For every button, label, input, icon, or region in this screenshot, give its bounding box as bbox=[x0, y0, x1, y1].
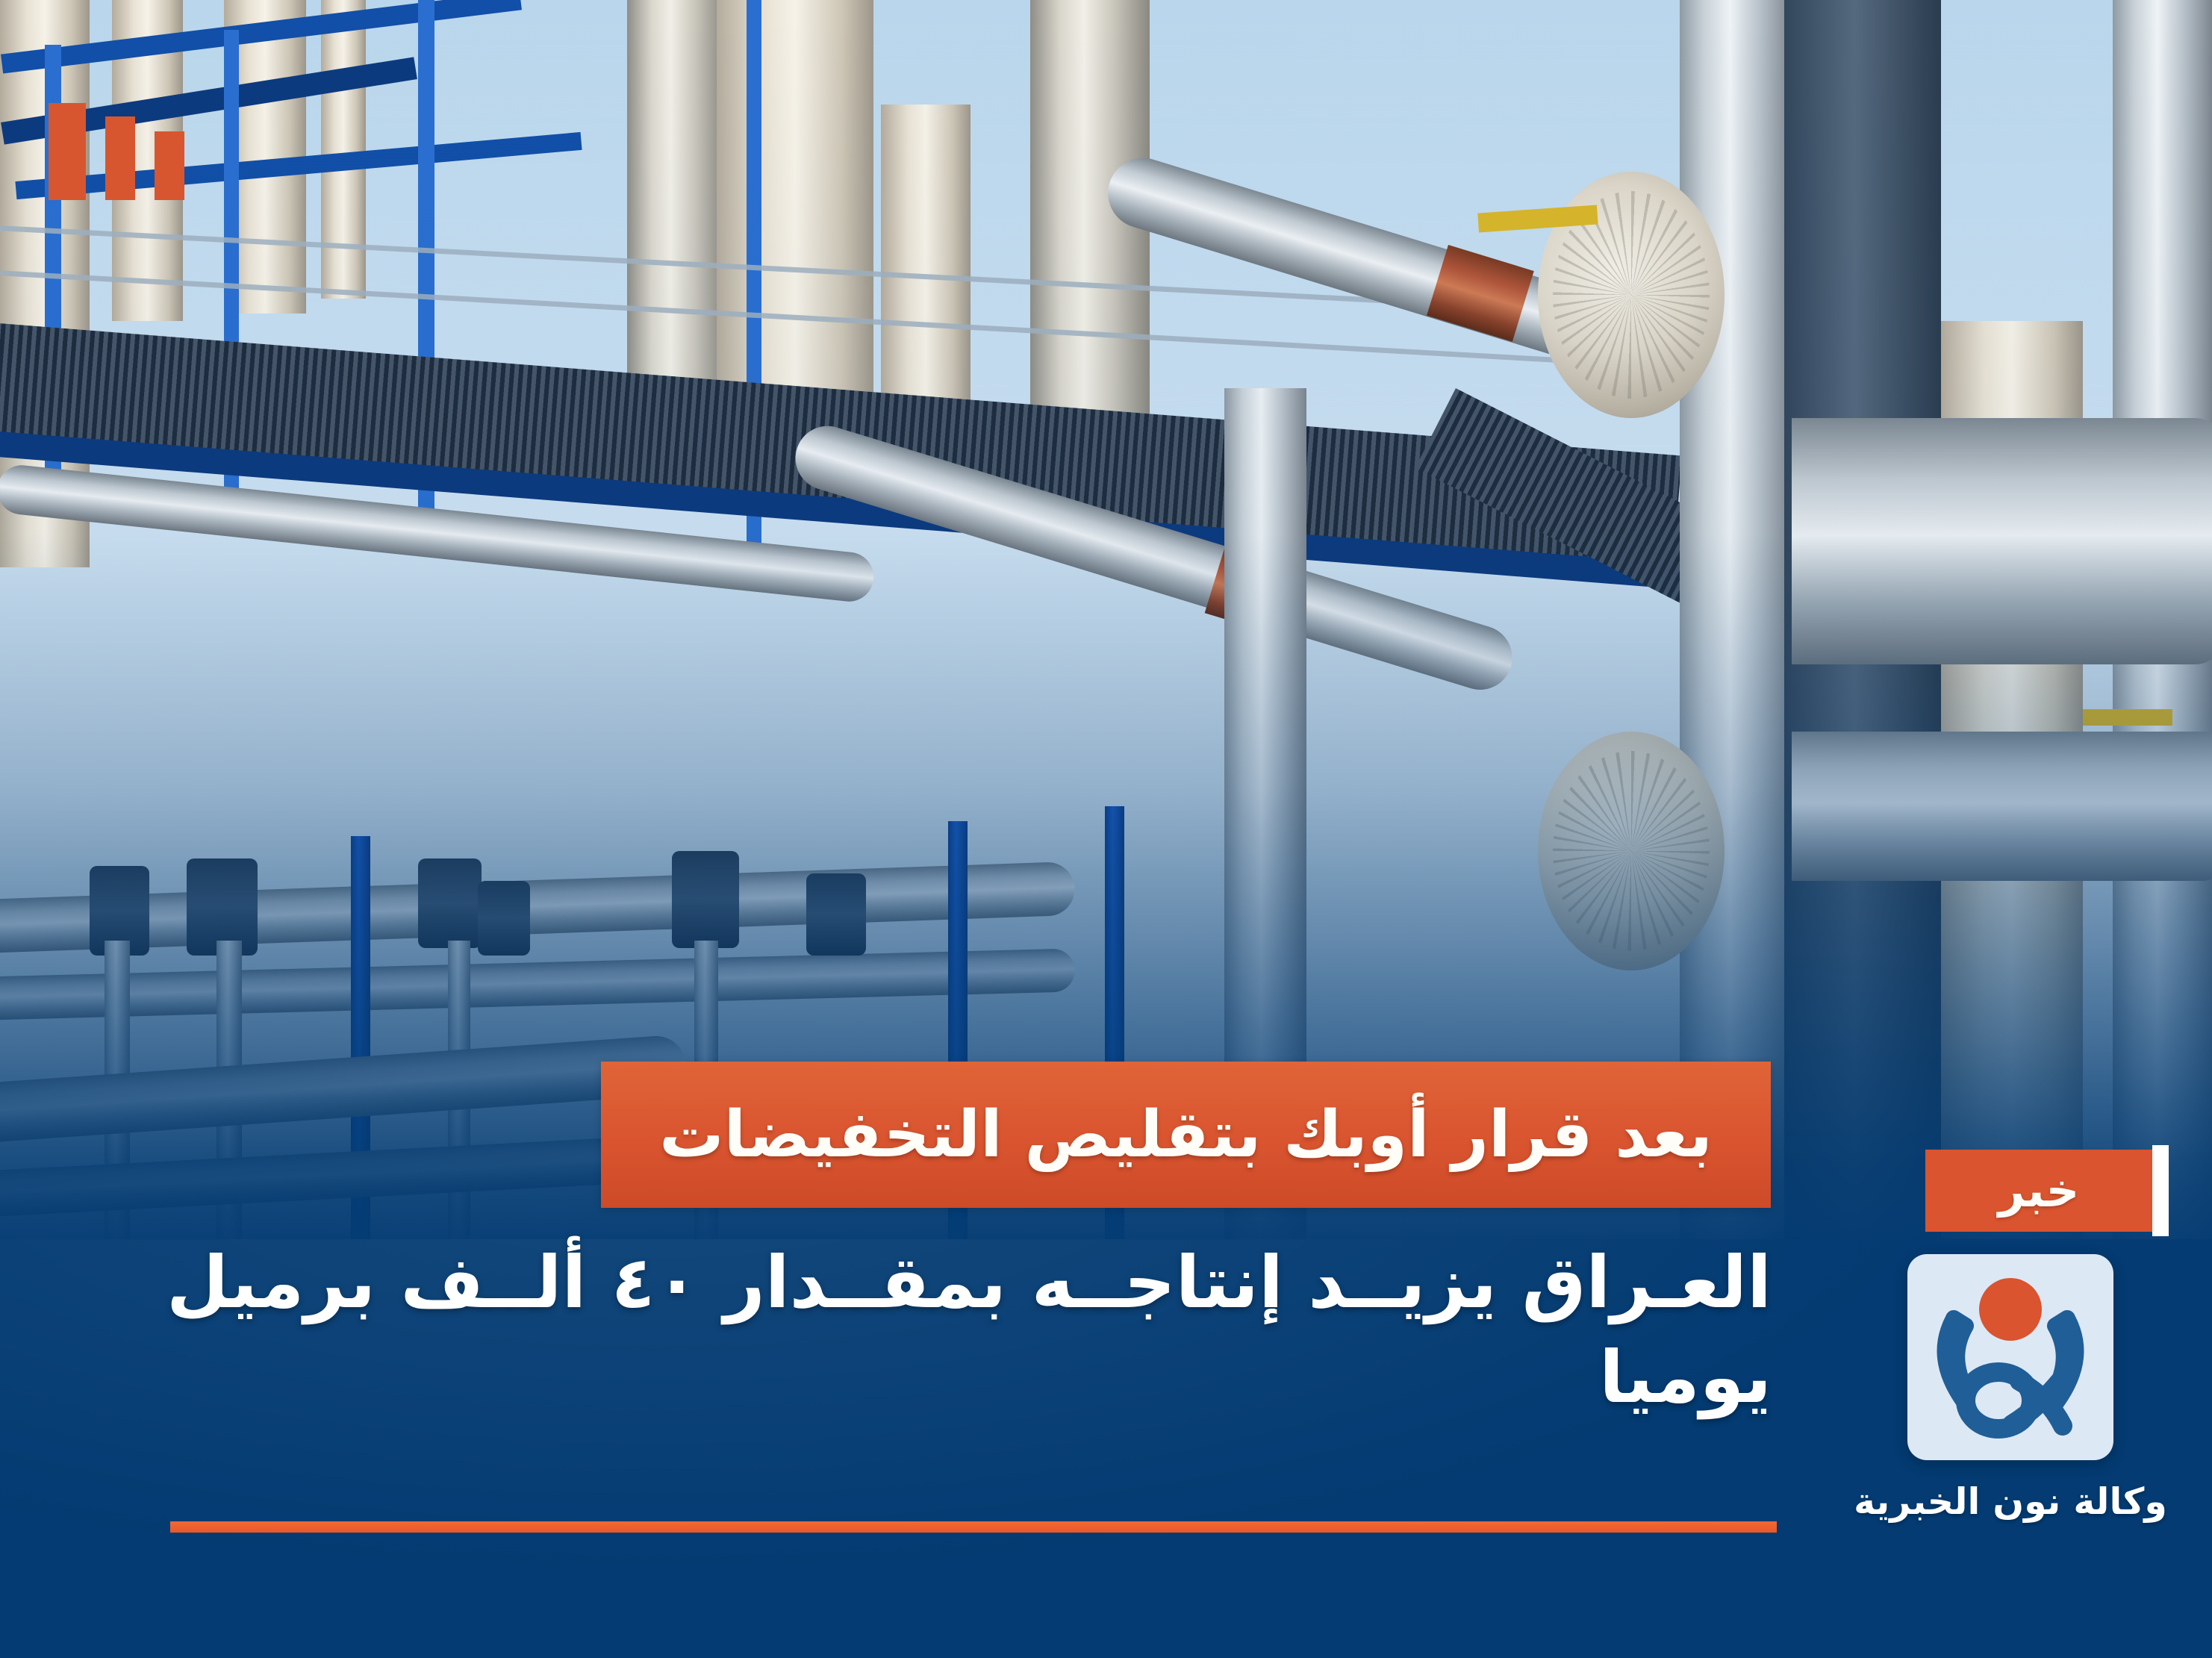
agency-logo bbox=[1907, 1254, 2113, 1460]
agency-name: وكالة نون الخبرية bbox=[1854, 1481, 2167, 1523]
kicker-text: بعد قرار أوبك بتقليص التخفيضات bbox=[659, 1103, 1713, 1167]
brand-rail: خبر وكالة نون الخبرية bbox=[1854, 1150, 2167, 1523]
bar-3 bbox=[155, 131, 184, 200]
bar-2 bbox=[105, 116, 135, 200]
noon-agency-figure-icon bbox=[1907, 1254, 2113, 1460]
accent-rule bbox=[170, 1521, 1777, 1533]
bar-1 bbox=[49, 103, 86, 200]
news-badge-label: خبر bbox=[1998, 1168, 2080, 1214]
headline: العـراق يزيــد إنتاجــه بمقــدار ٤٠ ألــ… bbox=[77, 1235, 1772, 1424]
three-bars-icon bbox=[49, 103, 190, 200]
news-badge: خبر bbox=[1925, 1150, 2152, 1232]
kicker-banner: بعد قرار أوبك بتقليص التخفيضات bbox=[601, 1062, 1771, 1208]
news-card: بعد قرار أوبك بتقليص التخفيضات العـراق ي… bbox=[0, 0, 2212, 1658]
